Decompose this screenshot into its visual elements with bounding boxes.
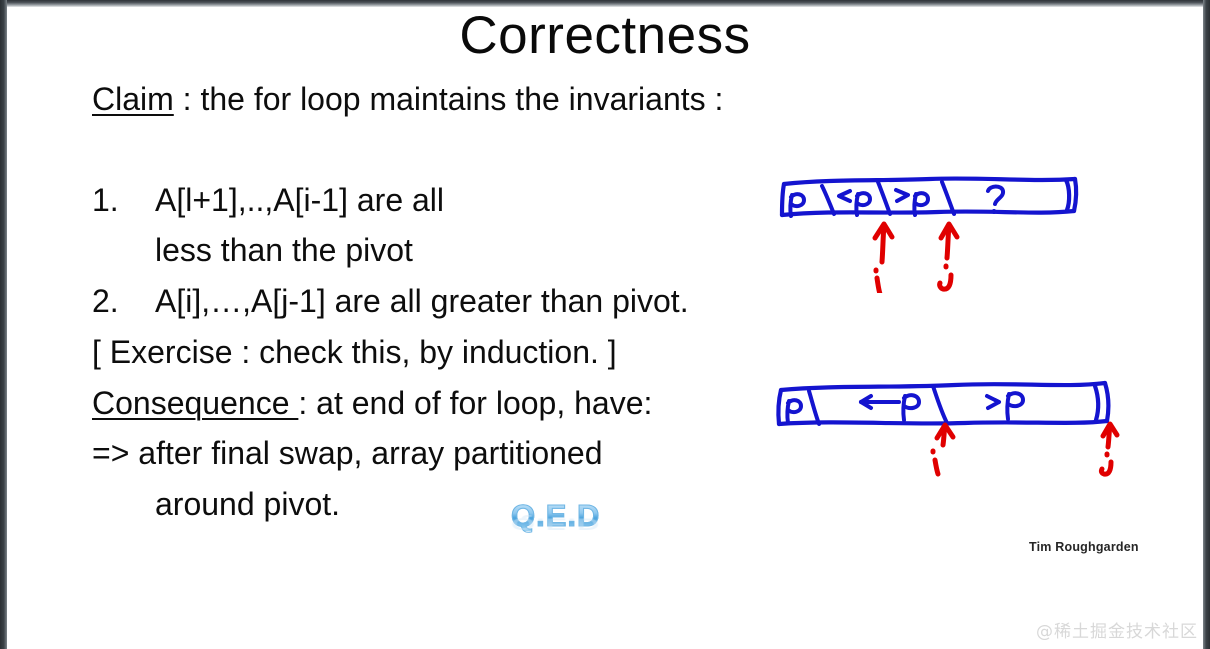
- watermark-text: @稀土掘金技术社区: [1036, 617, 1198, 642]
- segment-label-less-than-p: [839, 191, 870, 215]
- pointer-label-i: [933, 451, 938, 474]
- slide-canvas: Correctness Claim : the for loop maintai…: [0, 0, 1210, 649]
- list-item-1-number: 1.: [92, 184, 119, 216]
- pointer-arrow-i: [875, 224, 892, 262]
- exercise-line: [ Exercise : check this, by induction. ]: [92, 336, 617, 368]
- pointer-arrow-i: [937, 425, 953, 445]
- consequence-rest: : at end of for loop, have:: [298, 385, 652, 421]
- window-edge-right: [1203, 0, 1210, 649]
- conclusion-line-1: => after final swap, array partitioned: [92, 437, 603, 469]
- pointer-label-j: [1101, 454, 1111, 474]
- segment-label-less-than-p: [861, 395, 919, 420]
- pointer-arrow-j: [1103, 424, 1117, 447]
- consequence-label: Consequence: [92, 385, 298, 421]
- segment-label-p: [790, 194, 804, 216]
- claim-label: Claim: [92, 81, 174, 117]
- array-box-outline: [778, 383, 1108, 424]
- pointer-label-i: [876, 270, 880, 293]
- end-of-loop-array-diagram: [765, 372, 1120, 487]
- attribution-text: Tim Roughgarden: [1029, 540, 1139, 554]
- qed-reflection: Q.E.D: [511, 516, 631, 533]
- invariant-array-diagram: [770, 158, 1090, 293]
- segment-label-unknown: [988, 187, 1003, 213]
- array-box-outline: [782, 179, 1076, 215]
- list-item-1-line-1: A[l+1],..,A[i-1] are all: [155, 184, 444, 216]
- segment-label-greater-than-p: [987, 393, 1023, 419]
- pointer-label-j: [940, 266, 951, 289]
- page-title: Correctness: [0, 6, 1210, 67]
- claim-rest: : the for loop maintains the invariants …: [174, 81, 724, 117]
- list-item-1-line-2: less than the pivot: [155, 234, 413, 266]
- array-segment-dividers: [822, 182, 954, 214]
- array-segment-dividers: [809, 386, 947, 424]
- segment-label-greater-than-p: [896, 190, 928, 215]
- claim-line: Claim : the for loop maintains the invar…: [92, 83, 723, 115]
- conclusion-line-2: around pivot.: [155, 488, 340, 520]
- qed-wordart: Q.E.D Q.E.D: [511, 500, 631, 556]
- consequence-line: Consequence : at end of for loop, have:: [92, 387, 652, 419]
- segment-label-p: [787, 400, 801, 423]
- window-edge-left: [0, 0, 7, 649]
- list-item-2-line-1: A[i],…,A[j-1] are all greater than pivot…: [155, 285, 689, 317]
- list-item-2-number: 2.: [92, 285, 119, 317]
- pointer-arrow-j: [941, 224, 957, 258]
